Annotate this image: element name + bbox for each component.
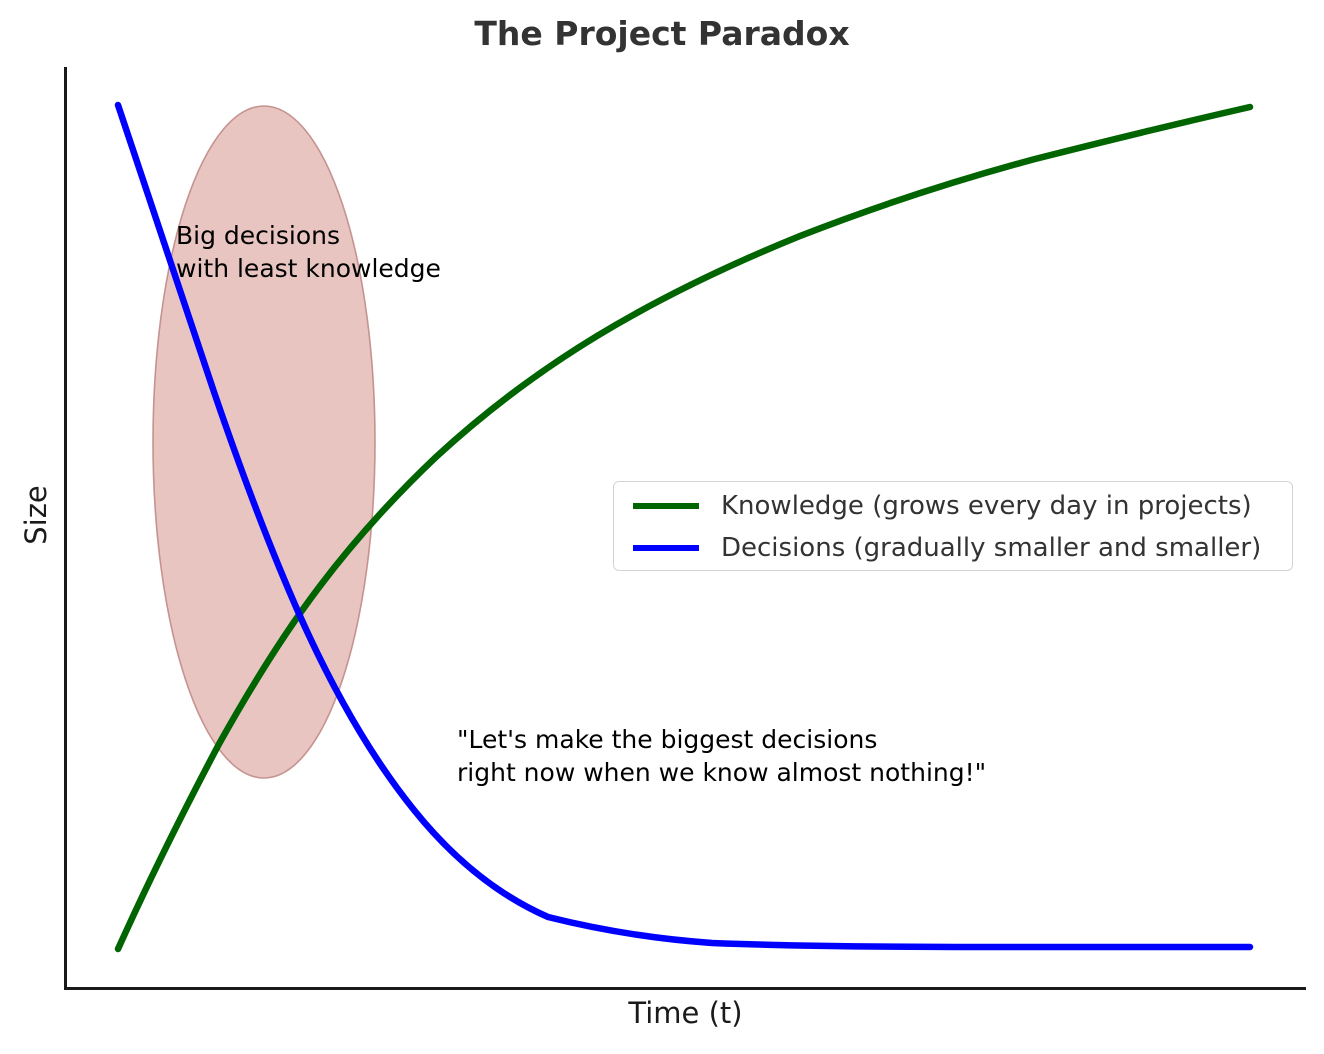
x-axis-label: Time (t) [65,996,1306,1030]
annotation-big-decisions: Big decisions with least knowledge [176,219,441,286]
legend-label-decisions: Decisions (gradually smaller and smaller… [721,533,1261,563]
early-phase-highlight-ellipse [153,106,375,778]
annotation-quote-line1: "Let's make the biggest decisions [457,725,877,754]
legend-swatch-knowledge [633,503,699,509]
annotation-quote: "Let's make the biggest decisions right … [457,723,986,790]
annotation-quote-line2: right now when we know almost nothing!" [457,758,986,787]
chart-figure: The Project Paradox Size Time (t) Big de… [0,0,1324,1054]
legend-item-knowledge: Knowledge (grows every day in projects) [614,483,1292,528]
legend-item-decisions: Decisions (gradually smaller and smaller… [614,525,1292,570]
legend-swatch-decisions [633,545,699,551]
chart-legend: Knowledge (grows every day in projects) … [613,481,1293,571]
annotation-big-decisions-line1: Big decisions [176,221,340,250]
y-axis-label: Size [19,455,53,575]
legend-label-knowledge: Knowledge (grows every day in projects) [721,491,1252,521]
annotation-big-decisions-line2: with least knowledge [176,254,441,283]
